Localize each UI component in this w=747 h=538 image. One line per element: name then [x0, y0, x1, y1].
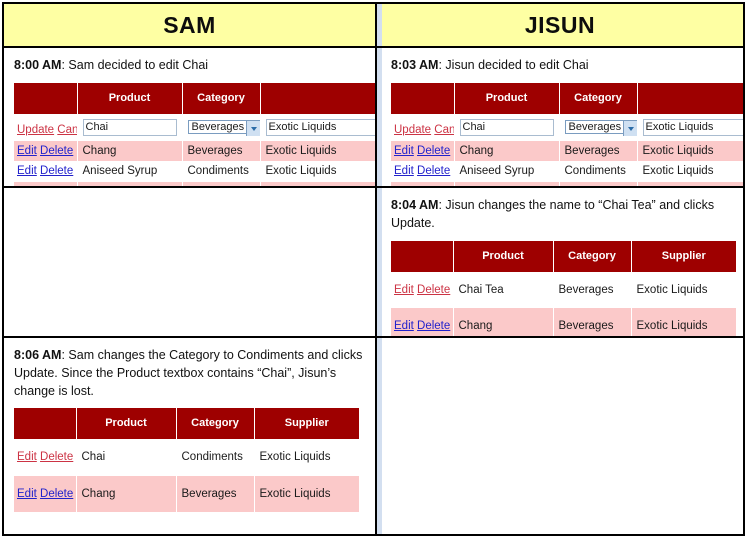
edit-link[interactable]: Edit [17, 145, 37, 157]
row-category: Beverages [559, 141, 637, 161]
row-product: Chef Anton's Cajun [77, 182, 182, 187]
panel-sam-806-body: 8:06 AM: Sam changes the Category to Con… [4, 338, 375, 534]
products-grid-sam-800: Product Category Supplier Update Cancel … [14, 83, 375, 186]
chevron-down-icon[interactable] [246, 121, 260, 134]
delete-link[interactable]: Delete [40, 451, 73, 463]
edit-link[interactable]: Edit [394, 284, 414, 296]
caption-time: 8:00 AM [14, 58, 61, 72]
delete-link[interactable]: Delete [417, 165, 450, 177]
row-supplier: Exotic Liquids [260, 161, 375, 181]
column-header-jisun-label: JISUN [525, 12, 595, 39]
edit-row-supplier-cell: Exotic Liquids [637, 114, 743, 141]
row-supplier: Exotic Liquids [637, 141, 743, 161]
row-commands: Edit Delete [391, 308, 453, 336]
category-select[interactable]: Beverages [565, 120, 638, 134]
panel-sam-800: 8:00 AM: Sam decided to edit Chai Produc… [4, 48, 377, 188]
panel-sam-806: 8:06 AM: Sam changes the Category to Con… [4, 338, 377, 534]
table-row: Edit Delete Chang Beverages Exotic Liqui… [14, 141, 375, 161]
scroll-strip [377, 48, 382, 186]
update-link[interactable]: Update [17, 124, 54, 136]
scroll-strip [377, 188, 382, 336]
products-grid-jisun-803: Product Category Supplier Update Cancel … [391, 83, 743, 186]
timeline-comparison-figure: SAM JISUN 8:00 AM: Sam decided to edit C… [0, 0, 747, 538]
table-row: Edit Delete Aniseed Syrup Condiments Exo… [391, 161, 743, 181]
panel-sam-800-caption: 8:00 AM: Sam decided to edit Chai [14, 57, 363, 75]
panel-jisun-804: 8:04 AM: Jisun changes the name to “Chai… [377, 188, 743, 338]
grid-header-product: Product [77, 83, 182, 114]
product-name-input[interactable]: Chai [83, 119, 177, 136]
edit-row-product-cell: Chai [77, 114, 182, 141]
grid-header-supplier: Supplier [260, 83, 375, 114]
row-category: Beverages [553, 272, 631, 308]
grid-header-product: Product [453, 241, 553, 272]
row-product: Chang [76, 476, 176, 512]
row-commands: Edit Delete [14, 182, 77, 187]
column-header-jisun: JISUN [377, 4, 743, 48]
row-supplier: Exotic Liquids [254, 476, 359, 512]
row-supplier: New Orleans Cajun Delights [260, 182, 375, 187]
update-link[interactable]: Update [394, 124, 431, 136]
products-grid-sam-806: Product Category Supplier Edit Delete Ch… [14, 408, 360, 512]
panel-jisun-804-caption: 8:04 AM: Jisun changes the name to “Chai… [391, 197, 731, 233]
edit-link[interactable]: Edit [17, 186, 37, 187]
edit-link[interactable]: Edit [394, 145, 414, 157]
table-row: Edit Delete Chang Beverages Exotic Liqui… [391, 141, 743, 161]
row-commands: Edit Delete [14, 439, 76, 475]
panel-sam-empty-row2 [4, 188, 377, 338]
delete-link[interactable]: Delete [417, 320, 450, 332]
grid-header-category: Category [559, 83, 637, 114]
cancel-link[interactable]: Cancel [434, 124, 454, 136]
category-select-value: Beverages [569, 121, 622, 133]
row-category: Beverages [182, 141, 260, 161]
row-product: Chang [77, 141, 182, 161]
delete-link[interactable]: Delete [40, 145, 73, 157]
table-row: Edit Delete Aniseed Syrup Condiments Exo… [14, 161, 375, 181]
grid-header-supplier: Supplier [254, 408, 359, 439]
edit-row-category-cell: Beverages [559, 114, 637, 141]
panel-jisun-803-body: 8:03 AM: Jisun decided to edit Chai Prod… [377, 48, 743, 186]
row-product: Aniseed Syrup [77, 161, 182, 181]
table-row: Edit Delete Chang Beverages Exotic Liqui… [391, 308, 736, 336]
row-product: Chef Anton's Cajun [454, 182, 559, 187]
row-commands: Edit Delete [391, 272, 453, 308]
edit-row-product-cell: Chai [454, 114, 559, 141]
edit-row-supplier-cell: Exotic Liquids [260, 114, 375, 141]
chevron-down-icon[interactable] [623, 121, 637, 134]
scroll-strip [377, 338, 382, 534]
table-row: Edit Delete Chang Beverages Exotic Liqui… [14, 476, 359, 512]
scroll-strip [377, 4, 382, 46]
delete-link[interactable]: Delete [417, 186, 450, 187]
row-commands: Edit Delete [14, 161, 77, 181]
row-product: Chang [454, 141, 559, 161]
grid-header-row: Product Category Supplier [391, 241, 736, 272]
edit-link[interactable]: Edit [394, 320, 414, 332]
delete-link[interactable]: Delete [40, 488, 73, 500]
supplier-input[interactable]: Exotic Liquids [643, 119, 744, 136]
edit-link[interactable]: Edit [17, 165, 37, 177]
caption-time: 8:06 AM [14, 348, 61, 362]
edit-link[interactable]: Edit [394, 165, 414, 177]
edit-row-commands: Update Cancel [14, 114, 77, 141]
grid-header-commands [14, 83, 77, 114]
row-supplier: Exotic Liquids [637, 161, 743, 181]
two-column-timeline-grid: SAM JISUN 8:00 AM: Sam decided to edit C… [2, 2, 745, 536]
caption-time: 8:03 AM [391, 58, 438, 72]
panel-jisun-804-body: 8:04 AM: Jisun changes the name to “Chai… [377, 188, 743, 336]
panel-jisun-803: 8:03 AM: Jisun decided to edit Chai Prod… [377, 48, 743, 188]
grid-header-category: Category [182, 83, 260, 114]
grid-header-product: Product [76, 408, 176, 439]
table-row: Edit Delete Chef Anton's Cajun Condiment… [391, 182, 743, 187]
panel-jisun-803-caption: 8:03 AM: Jisun decided to edit Chai [391, 57, 731, 75]
edit-link[interactable]: Edit [394, 186, 414, 187]
delete-link[interactable]: Delete [40, 165, 73, 177]
grid-header-row: Product Category Supplier [14, 83, 375, 114]
table-row: Edit Delete Chai Condiments Exotic Liqui… [14, 439, 359, 475]
grid-header-product: Product [454, 83, 559, 114]
grid-edit-row: Update Cancel Chai Beverages Exotic Liqu… [14, 114, 375, 141]
grid-header-supplier: Supplier [631, 241, 736, 272]
panel-jisun-empty-row3 [377, 338, 743, 534]
cancel-link[interactable]: Cancel [57, 124, 77, 136]
caption-text: : Sam decided to edit Chai [61, 58, 208, 72]
caption-time: 8:04 AM [391, 198, 438, 212]
grid-edit-row: Update Cancel Chai Beverages Exotic Liqu… [391, 114, 743, 141]
row-commands: Edit Delete [14, 141, 77, 161]
row-category: Condiments [559, 161, 637, 181]
category-select-value: Beverages [192, 121, 245, 133]
row-category: Condiments [176, 439, 254, 475]
edit-row-commands: Update Cancel [391, 114, 454, 141]
column-header-sam: SAM [4, 4, 377, 48]
row-commands: Edit Delete [391, 141, 454, 161]
row-supplier: Exotic Liquids [631, 308, 736, 336]
caption-text: : Jisun decided to edit Chai [438, 58, 588, 72]
row-product: Aniseed Syrup [454, 161, 559, 181]
grid-header-row: Product Category Supplier [391, 83, 743, 114]
row-product: Chai Tea [453, 272, 553, 308]
row-supplier: New Orleans Cajun Delights [637, 182, 743, 187]
table-row: Edit Delete Chai Tea Beverages Exotic Li… [391, 272, 736, 308]
category-select[interactable]: Beverages [188, 120, 261, 134]
table-row: Edit Delete Chef Anton's Cajun Condiment… [14, 182, 375, 187]
row-product: Chang [453, 308, 553, 336]
grid-header-category: Category [176, 408, 254, 439]
row-category: Condiments [182, 161, 260, 181]
grid-header-category: Category [553, 241, 631, 272]
panel-sam-806-caption: 8:06 AM: Sam changes the Category to Con… [14, 347, 363, 400]
grid-header-commands [391, 83, 454, 114]
grid-header-supplier: Supplier [637, 83, 743, 114]
grid-header-commands [391, 241, 453, 272]
product-name-input[interactable]: Chai [460, 119, 554, 136]
row-category: Beverages [553, 308, 631, 336]
row-category: Condiments [182, 182, 260, 187]
row-supplier: Exotic Liquids [260, 141, 375, 161]
row-commands: Edit Delete [14, 476, 76, 512]
delete-link[interactable]: Delete [417, 284, 450, 296]
panel-sam-800-body: 8:00 AM: Sam decided to edit Chai Produc… [4, 48, 375, 186]
caption-text: : Jisun changes the name to “Chai Tea” a… [391, 198, 714, 230]
delete-link[interactable]: Delete [40, 186, 73, 187]
caption-text: : Sam changes the Category to Condiments… [14, 348, 362, 398]
grid-header-commands [14, 408, 76, 439]
row-product: Chai [76, 439, 176, 475]
row-category: Beverages [176, 476, 254, 512]
column-header-sam-label: SAM [163, 12, 216, 39]
edit-row-category-cell: Beverages [182, 114, 260, 141]
row-supplier: Exotic Liquids [631, 272, 736, 308]
row-category: Condiments [559, 182, 637, 187]
edit-link[interactable]: Edit [17, 488, 37, 500]
grid-header-row: Product Category Supplier [14, 408, 359, 439]
edit-link[interactable]: Edit [17, 451, 37, 463]
row-supplier: Exotic Liquids [254, 439, 359, 475]
row-commands: Edit Delete [391, 161, 454, 181]
row-commands: Edit Delete [391, 182, 454, 187]
products-grid-jisun-804: Product Category Supplier Edit Delete Ch… [391, 241, 737, 337]
delete-link[interactable]: Delete [417, 145, 450, 157]
supplier-input[interactable]: Exotic Liquids [266, 119, 376, 136]
